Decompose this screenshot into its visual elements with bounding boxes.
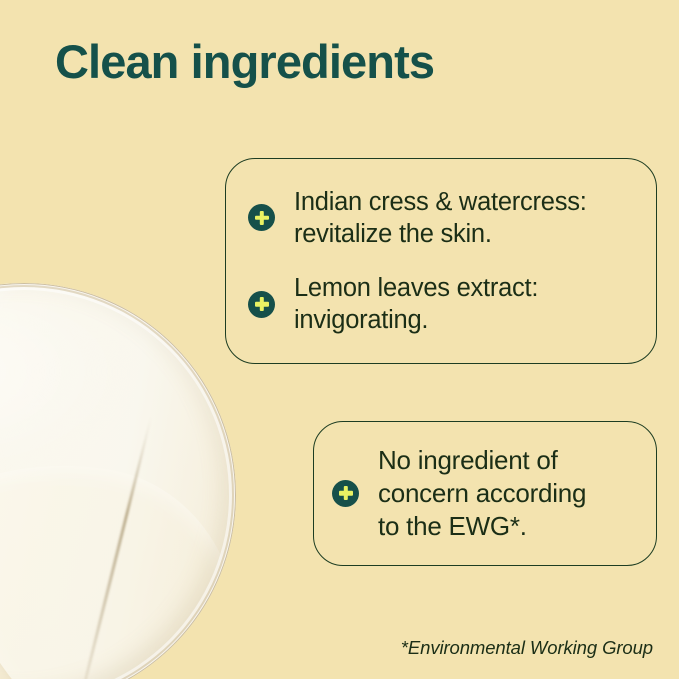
product-gel-patch-image xyxy=(0,283,236,679)
plus-icon xyxy=(248,204,275,231)
ewg-card: No ingredient of concern according to th… xyxy=(313,421,657,566)
list-item: Indian cress & watercress: revitalize th… xyxy=(248,186,630,250)
list-item-label: Lemon leaves extract: invigorating. xyxy=(294,272,538,336)
clean-ingredients-poster: Clean ingredients Indian cress & watercr… xyxy=(0,0,679,679)
list-item-label: Indian cress & watercress: revitalize th… xyxy=(294,186,587,250)
list-item: Lemon leaves extract: invigorating. xyxy=(248,272,630,336)
footnote: *Environmental Working Group xyxy=(401,637,653,659)
plus-icon xyxy=(332,480,359,507)
ingredients-card: Indian cress & watercress: revitalize th… xyxy=(225,158,657,364)
page-title: Clean ingredients xyxy=(55,36,434,88)
list-item-label: No ingredient of concern according to th… xyxy=(378,444,586,543)
list-item: No ingredient of concern according to th… xyxy=(332,444,636,543)
plus-icon xyxy=(248,291,275,318)
